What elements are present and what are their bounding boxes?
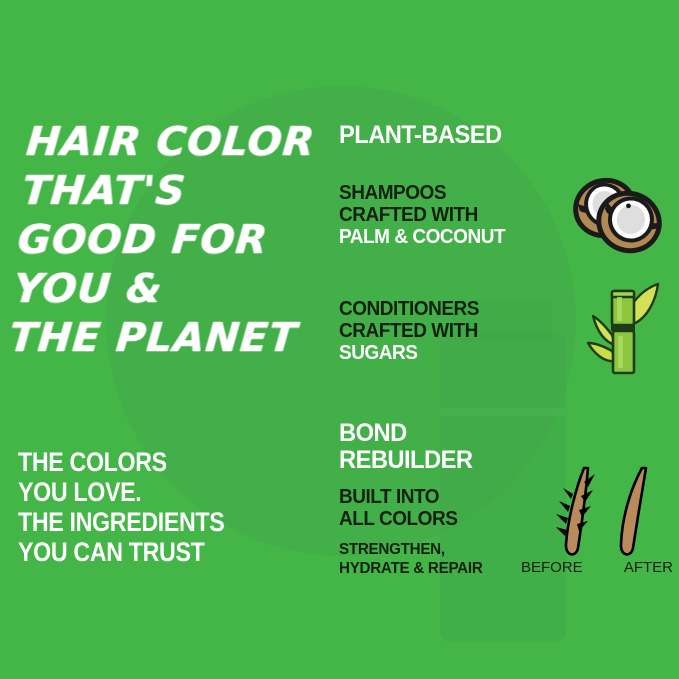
hair-strands-icon <box>524 466 672 571</box>
sugarcane-icon <box>578 281 662 380</box>
after-label: AFTER <box>624 559 673 576</box>
feature-block-shampoos: SHAMPOOS CRAFTED WITH PALM & COCONUT <box>339 182 589 248</box>
promo-poster: HAIR COLOR THAT'S GOOD FOR YOU & THE PLA… <box>0 0 679 679</box>
before-after-labels: BEFORE AFTER <box>521 559 673 576</box>
coconut-icon <box>565 166 669 267</box>
feature-block-conditioners: CONDITIONERS CRAFTED WITH SUGARS <box>339 298 589 364</box>
feature-block-plant-based: PLANT-BASED <box>339 122 589 149</box>
shampoos-description: SHAMPOOS CRAFTED WITH <box>339 182 577 226</box>
before-strand <box>556 468 595 554</box>
shampoos-ingredients: PALM & COCONUT <box>339 226 577 248</box>
conditioners-ingredients: SUGARS <box>339 342 577 364</box>
before-label: BEFORE <box>521 559 583 576</box>
left-column: HAIR COLOR THAT'S GOOD FOR YOU & THE PLA… <box>18 118 338 363</box>
conditioners-description: CONDITIONERS CRAFTED WITH <box>339 298 577 342</box>
page-headline: HAIR COLOR THAT'S GOOD FOR YOU & THE PLA… <box>7 118 348 363</box>
page-subheadline: THE COLORS YOU LOVE. THE INGREDIENTS YOU… <box>18 447 302 567</box>
after-strand <box>621 468 646 554</box>
plant-based-title: PLANT-BASED <box>339 122 577 149</box>
